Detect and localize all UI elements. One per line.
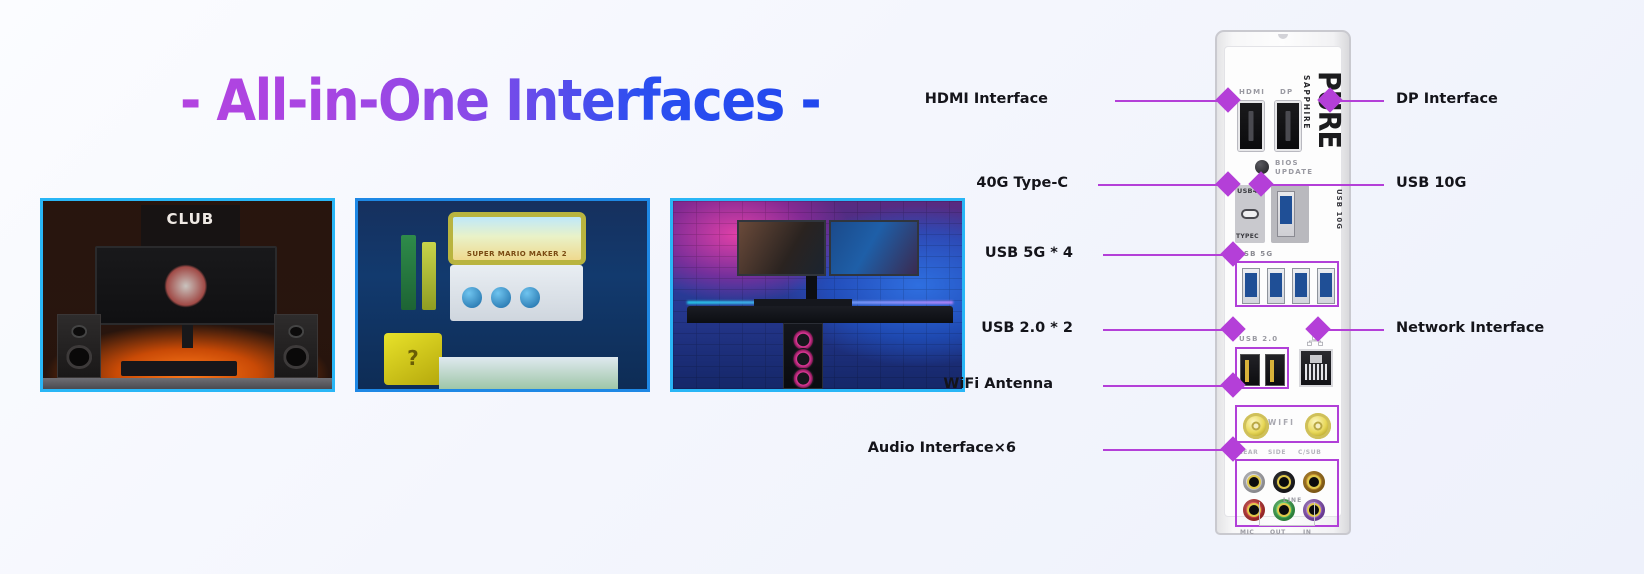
wifi-label: WIFI: [1268, 418, 1295, 427]
callout-label: WiFi Antenna: [943, 376, 1053, 392]
callout-line: [1261, 184, 1384, 186]
audio-jack-center-sub[interactable]: [1303, 471, 1325, 493]
usb-5g-port-group: [1235, 261, 1339, 307]
audio-side-label: SIDE: [1268, 449, 1286, 456]
callout-line: [1103, 254, 1233, 256]
usb-20-label: USB 2.0: [1239, 335, 1278, 343]
callout-line: [1115, 100, 1228, 102]
audio-line-label: LINE: [1283, 497, 1302, 504]
callout-label: USB 10G: [1396, 175, 1466, 191]
audio-mic-label: MIC: [1240, 529, 1254, 536]
hdmi-port-label: HDMI: [1239, 88, 1265, 96]
displayport-port[interactable]: [1275, 101, 1301, 151]
audio-jack-rear[interactable]: [1243, 471, 1265, 493]
hdmi-port[interactable]: [1238, 101, 1264, 151]
usb-10g-block: [1271, 185, 1309, 243]
usb-10g-port[interactable]: [1277, 191, 1295, 237]
page-title: - All-in-One Interfaces -: [180, 68, 820, 134]
audio-center-sub-label: C/SUB: [1298, 449, 1321, 456]
photo-desk-setup-ambient-orange: [40, 198, 335, 392]
wifi-antenna-connector[interactable]: [1305, 413, 1331, 439]
photo-mario-maker-retro-setup: [355, 198, 650, 392]
audio-jack-side[interactable]: [1273, 471, 1295, 493]
callout-label: DP Interface: [1396, 91, 1498, 107]
wifi-antenna-connector[interactable]: [1243, 413, 1269, 439]
callout-label: Audio Interface×6: [868, 440, 1016, 456]
marketing-banner: - All-in-One Interfaces -: [0, 0, 1644, 574]
rj45-network-port[interactable]: [1299, 349, 1333, 387]
callout-label: 40G Type-C: [976, 175, 1068, 191]
callout-line: [1103, 329, 1233, 331]
callout-label: HDMI Interface: [925, 91, 1048, 107]
usb-5g-port[interactable]: [1267, 268, 1285, 304]
bios-update-label: BIOS UPDATE: [1275, 159, 1335, 178]
callout-label: Network Interface: [1396, 320, 1544, 336]
usb-5g-port[interactable]: [1242, 268, 1260, 304]
panel-notch: [1278, 34, 1288, 39]
photo-2-art: [358, 201, 647, 389]
usb-20-port[interactable]: [1265, 354, 1285, 386]
dp-port-label: DP: [1280, 88, 1293, 96]
line-bracket: [1259, 502, 1315, 526]
photo-3-art: [673, 201, 962, 389]
usb-20-port[interactable]: [1240, 354, 1260, 386]
usb-5g-port[interactable]: [1292, 268, 1310, 304]
usb-type-c-port[interactable]: [1241, 209, 1259, 219]
callout-line: [1103, 449, 1233, 451]
photo-rgb-dual-monitor-setup: [670, 198, 965, 392]
usb-10g-label: USB 10G: [1335, 189, 1343, 230]
usb-5g-port[interactable]: [1317, 268, 1335, 304]
brand-sapphire-text: SAPPHIRE: [1302, 75, 1311, 130]
audio-out-label: OUT: [1270, 529, 1286, 536]
callout-label: USB 2.0 * 2: [981, 320, 1073, 336]
photo-1-art: [43, 201, 332, 389]
callout-line: [1103, 385, 1233, 387]
typec-label: TYPEC: [1236, 233, 1259, 240]
audio-in-label: IN: [1303, 529, 1311, 536]
callout-line: [1098, 184, 1228, 186]
callout-label: USB 5G * 4: [985, 245, 1073, 261]
